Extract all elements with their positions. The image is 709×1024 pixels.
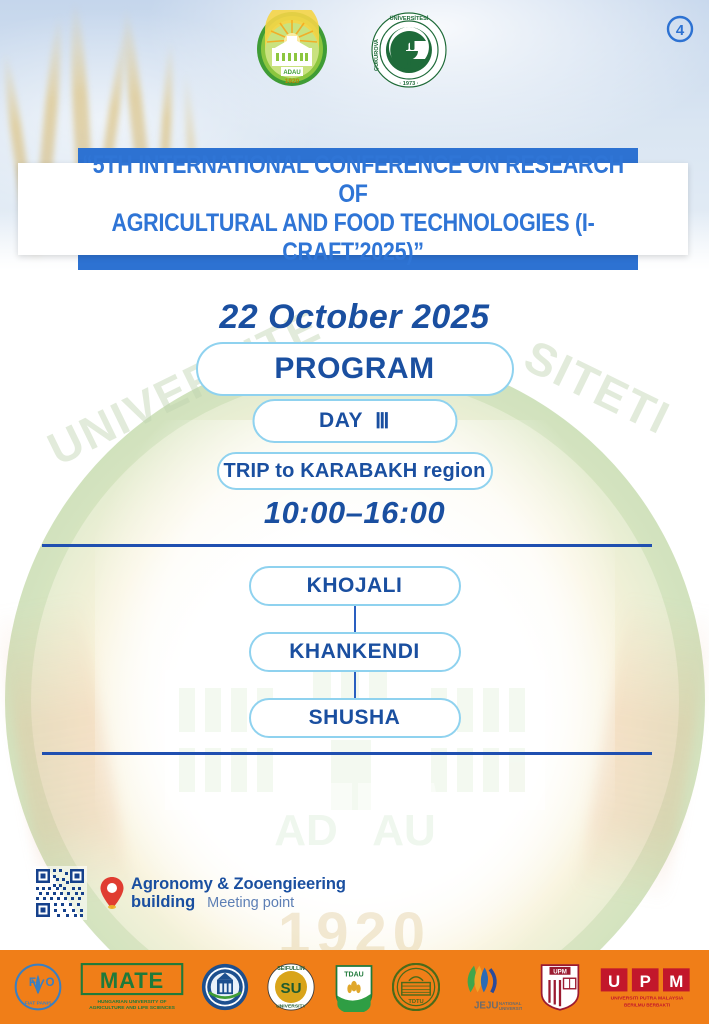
program-label-text: PROGRAM — [274, 352, 434, 386]
program-date: 22 October 2025 — [0, 298, 709, 337]
meeting-point-text: Agronomy & Zooengieering building Meetin… — [131, 875, 346, 912]
svg-text:AGRICULTURE AND LIFE SCIENCES: AGRICULTURE AND LIFE SCIENCES — [89, 1005, 176, 1011]
trip-label-text: TRIP to KARABAKH region — [223, 460, 485, 483]
svg-text:JEJU: JEJU — [474, 1000, 498, 1011]
svg-text:SU: SU — [280, 980, 301, 997]
svg-text:BERILMU BERBAKTI: BERILMU BERBAKTI — [624, 1003, 670, 1008]
itinerary-connector — [354, 606, 356, 632]
svg-text:UPM: UPM — [554, 968, 568, 975]
meeting-point-caption: Meeting point — [207, 895, 294, 911]
qr-code-icon[interactable] — [33, 866, 87, 920]
meeting-point-location-line2: building — [131, 893, 195, 911]
svg-text:SEIFULLIN: SEIFULLIN — [277, 966, 305, 972]
sponsors-footer: F O FIAT PANIS MATE HUNGARIAN UNIVERSITY… — [0, 950, 709, 1024]
day-label-pill: DAY Ⅲ — [252, 399, 457, 443]
day-number-text: Ⅲ — [375, 409, 390, 434]
mate-logo: MATE HUNGARIAN UNIVERSITY OF AGRICULTURE… — [80, 962, 184, 1012]
itinerary-stop: KHANKENDI — [249, 632, 461, 672]
page-number-badge: 4 4 — [665, 14, 695, 44]
svg-text:M: M — [669, 972, 683, 991]
cukurova-university-logo: ÜNİVERSİTESİ · 1973 · ÇUKUROVA — [370, 11, 448, 89]
svg-text:HUNGARIAN UNIVERSITY OF: HUNGARIAN UNIVERSITY OF — [97, 999, 166, 1005]
itinerary-bottom-divider — [42, 752, 652, 755]
program-label-pill: PROGRAM — [196, 342, 514, 396]
tdau-logo: TDAU — [333, 962, 375, 1012]
itinerary-top-divider — [42, 544, 652, 547]
itinerary-stop: KHOJALI — [249, 566, 461, 606]
page-number-text: 4 — [676, 22, 685, 39]
day-label-text: DAY — [319, 409, 363, 433]
svg-text:P: P — [640, 972, 651, 991]
tdtu-logo: TDTU — [392, 963, 440, 1011]
svg-text:1920: 1920 — [285, 78, 300, 85]
itinerary-stop-label: KHOJALI — [307, 574, 403, 598]
seifullin-university-logo: SU SEIFULLIN UNIVERSITY — [267, 963, 315, 1011]
svg-text:F: F — [29, 977, 36, 989]
conference-program-poster: ADAU 1920 ÜNİVERSİTESİ · 1973 · ÇUKUROVA — [0, 0, 709, 1024]
location-pin-icon — [99, 876, 125, 910]
svg-text:UNIVERSITI PUTRA MALAYSIA: UNIVERSITI PUTRA MALAYSIA — [611, 995, 684, 1001]
itinerary-stop-label: SHUSHA — [309, 706, 401, 730]
program-time: 10:00–16:00 — [0, 495, 709, 531]
svg-text:· 1973 ·: · 1973 · — [399, 81, 418, 87]
svg-text:O: O — [45, 977, 54, 989]
meeting-point-block: Agronomy & Zooengieering building Meetin… — [33, 866, 346, 920]
trip-label-pill: TRIP to KARABAKH region — [217, 452, 493, 490]
svg-text:U: U — [608, 972, 620, 991]
itinerary-stop-label: KHANKENDI — [289, 640, 420, 664]
meeting-point-location-line1: Agronomy & Zooengieering — [131, 875, 346, 893]
adau-logo: ADAU 1920 — [255, 10, 329, 88]
program-content: 22 October 2025 PROGRAM DAY Ⅲ TRIP to KA… — [0, 270, 709, 950]
svg-text:TDTU: TDTU — [408, 999, 423, 1005]
svg-text:FIAT PANIS: FIAT PANIS — [25, 1000, 52, 1006]
svg-text:ÇUKUROVA: ÇUKUROVA — [374, 39, 380, 71]
svg-text:NATIONAL: NATIONAL — [499, 1001, 522, 1006]
itinerary-connector — [354, 672, 356, 698]
svg-text:ADAU: ADAU — [283, 70, 300, 76]
svg-text:MATE: MATE — [99, 968, 163, 993]
itinerary-stop: SHUSHA — [249, 698, 461, 738]
svg-text:TDAU: TDAU — [344, 972, 363, 979]
upm-shield-logo: UPM — [539, 962, 581, 1012]
svg-text:UNIVERSITY: UNIVERSITY — [499, 1006, 522, 1011]
conference-title: “5TH INTERNATIONAL CONFERENCE ON RESEARC… — [65, 151, 641, 267]
conference-title-card: “5TH INTERNATIONAL CONFERENCE ON RESEARC… — [18, 163, 688, 255]
fao-logo: F O FIAT PANIS — [14, 963, 62, 1011]
svg-text:UNIVERSITY: UNIVERSITY — [276, 1003, 306, 1009]
svg-text:ÜNİVERSİTESİ: ÜNİVERSİTESİ — [390, 15, 429, 22]
upm-wordmark-logo: U P M UNIVERSITI PUTRA MALAYSIA BERILMU … — [599, 964, 695, 1010]
uzbek-seal-logo — [201, 963, 249, 1011]
jeju-national-university-logo: JEJU NATIONAL UNIVERSITY — [458, 962, 522, 1012]
